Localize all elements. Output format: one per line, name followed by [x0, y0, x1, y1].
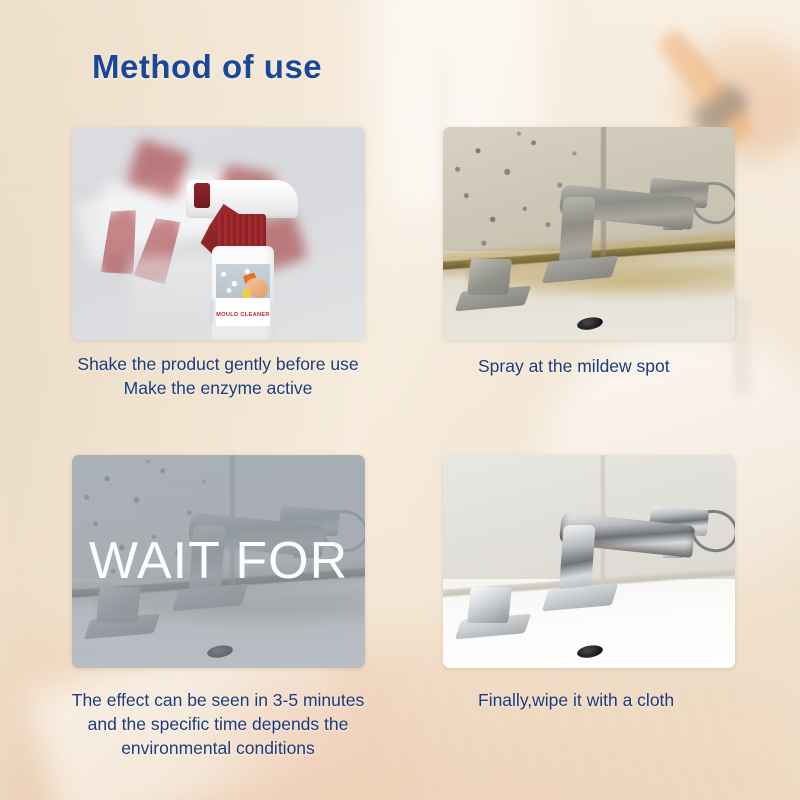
sprayer-head [186, 180, 298, 218]
bottle-label: MOULD CLEANER [216, 264, 270, 326]
faucet [443, 127, 735, 340]
caption-line: Make the enzyme active [42, 376, 394, 400]
step-1-caption: Shake the product gently before use Make… [42, 352, 394, 400]
caption-line: The effect can be seen in 3-5 minutes [42, 688, 394, 712]
caption-line: environmental conditions [42, 736, 394, 760]
step-3-caption: The effect can be seen in 3-5 minutes an… [42, 688, 394, 760]
label-accent-icon [243, 289, 250, 298]
faucet-handle-cube [467, 587, 512, 623]
product-name-text: MOULD CLEANER [216, 312, 270, 318]
step-4-image [443, 455, 735, 668]
caption-line: and the specific time depends the [42, 712, 394, 736]
sprayer-nozzle [194, 183, 210, 208]
blurred-bathroom-background [0, 0, 800, 800]
step-4-caption: Finally,wipe it with a cloth [478, 688, 778, 712]
faucet-handle-cube [467, 259, 512, 295]
step-2-image [443, 127, 735, 340]
step-3-image: WAIT FOR [72, 455, 365, 668]
page-title: Method of use [92, 48, 322, 86]
caption-line: Shake the product gently before use [42, 352, 394, 376]
shake-scene: MOULD CLEANER [72, 127, 365, 340]
overflow-drain [576, 316, 604, 332]
step-1-image: MOULD CLEANER [72, 127, 365, 340]
wait-overlay-text: WAIT FOR [72, 534, 365, 586]
faucet [443, 455, 735, 668]
label-foam-artwork [216, 264, 270, 298]
overflow-drain [576, 644, 604, 660]
faucet-spout-base [542, 256, 619, 284]
background-overlay-veil [0, 0, 800, 800]
bottle-cap [218, 214, 266, 248]
step-2-caption: Spray at the mildew spot [478, 354, 778, 378]
faucet-spout-base [542, 584, 619, 612]
spray-bottle: MOULD CLEANER [172, 180, 292, 340]
mildewed-faucet-scene [443, 127, 735, 340]
caption-line: Spray at the mildew spot [478, 354, 778, 378]
caption-line: Finally,wipe it with a cloth [478, 688, 778, 712]
clean-faucet-scene [443, 455, 735, 668]
product-instruction-graphic: Method of use [0, 0, 800, 800]
